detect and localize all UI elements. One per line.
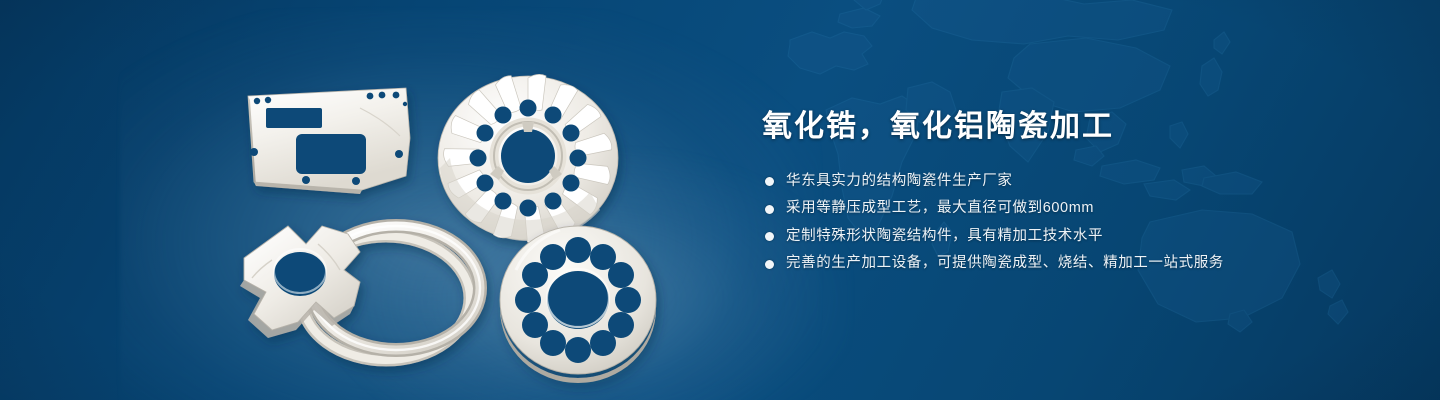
bullet-dot-icon [765,205,774,214]
product-ceramic-impeller-disc [438,74,618,243]
banner-copy: 氧化锆，氧化铝陶瓷加工 华东具实力的结构陶瓷件生产厂家 采用等静压成型工艺，最大… [762,108,1362,282]
product-ceramic-perforated-ring [500,226,656,383]
hero-banner: 氧化锆，氧化铝陶瓷加工 华东具实力的结构陶瓷件生产厂家 采用等静压成型工艺，最大… [0,0,1440,400]
list-item: 定制特殊形状陶瓷结构件，具有精加工技术水平 [765,227,1362,247]
feature-text: 完善的生产加工设备，可提供陶瓷成型、烧结、精加工一站式服务 [786,254,1224,274]
list-item: 采用等静压成型工艺，最大直径可做到600mm [765,199,1362,219]
product-ceramic-cross-plate-and-rings [240,226,480,360]
feature-text: 采用等静压成型工艺，最大直径可做到600mm [786,199,1094,219]
list-item: 华东具实力的结构陶瓷件生产厂家 [765,172,1362,192]
bullet-dot-icon [765,177,774,186]
list-item: 完善的生产加工设备，可提供陶瓷成型、烧结、精加工一站式服务 [765,254,1362,274]
product-ceramic-mounting-plate [248,88,410,194]
feature-list: 华东具实力的结构陶瓷件生产厂家 采用等静压成型工艺，最大直径可做到600mm 定… [765,172,1362,274]
bullet-dot-icon [765,260,774,269]
product-photo-collage [210,30,730,390]
page-title: 氧化锆，氧化铝陶瓷加工 [762,108,1362,146]
feature-text: 定制特殊形状陶瓷结构件，具有精加工技术水平 [786,227,1103,247]
feature-text: 华东具实力的结构陶瓷件生产厂家 [786,172,1013,192]
bullet-dot-icon [765,232,774,241]
